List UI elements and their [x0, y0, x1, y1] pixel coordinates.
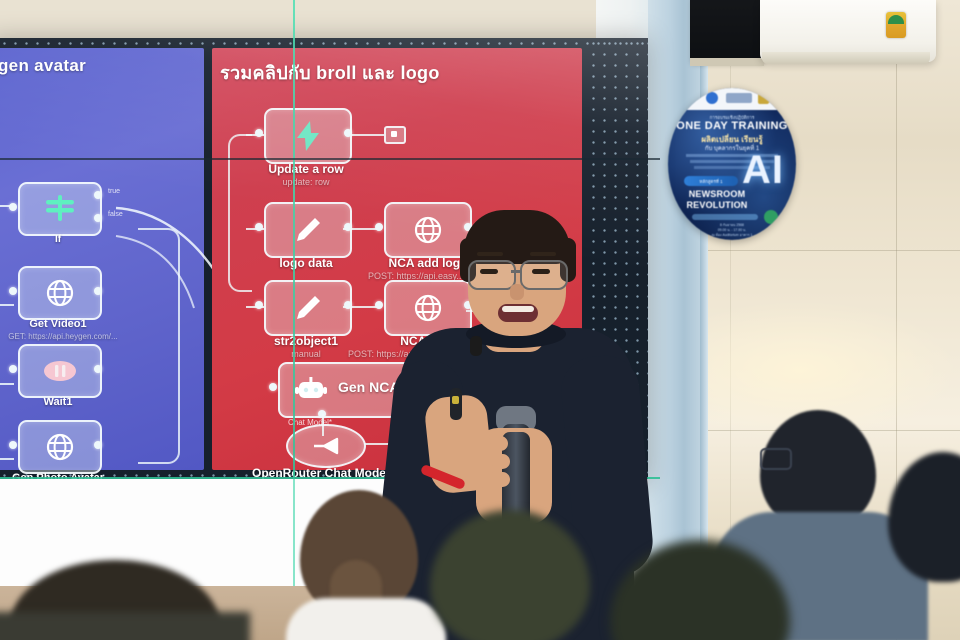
globe-icon [20, 268, 100, 318]
port-getvideo-out[interactable] [94, 287, 102, 295]
poster-topic-line2: REVOLUTION [678, 200, 756, 210]
videowall-seam-horizontal [0, 158, 660, 160]
pause-icon [20, 346, 100, 396]
node-label-gen-nca: Gen NCA [338, 379, 399, 395]
lapel-mic-clip [470, 336, 482, 356]
pencil-icon [266, 204, 350, 256]
lightning-icon [266, 110, 350, 162]
eyeglasses-bridge [511, 270, 522, 273]
panel-blue-title: gen avatar [0, 56, 86, 76]
node-label-if: If [18, 234, 98, 245]
poster-ai-text: AI [742, 148, 784, 193]
port-logodata-out[interactable] [344, 223, 352, 231]
node-get-video1[interactable] [18, 266, 102, 320]
node-sub-update-a-row: update: row [250, 177, 362, 187]
poster-logo-1-icon [706, 92, 718, 104]
node-wait1[interactable] [18, 344, 102, 398]
port-ncaaddlogo-in[interactable] [375, 223, 383, 231]
photograph-scene: การอบรมเชิงปฏิบัติการ ONE DAY TRAINING ผ… [0, 0, 960, 640]
node-update-a-row[interactable] [264, 108, 352, 164]
node-label-get-video1: Get Video1 [6, 318, 110, 330]
videowall-seam-vertical [293, 0, 295, 520]
node-label-update-a-row: Update a row [250, 162, 362, 176]
port-ncamix3-in[interactable] [375, 301, 383, 309]
poster-footer3: ณ ห้อง Auditorium อาคาร 1 [668, 233, 796, 238]
pencil-icon [266, 282, 350, 334]
presenter-brow-left [477, 252, 503, 256]
node-sub-str2object1: manual [250, 349, 362, 359]
poster-seal-icon [764, 210, 778, 224]
presenter-eye-left [480, 269, 498, 274]
node-label-wait1: Wait1 [18, 396, 98, 408]
port-if-true[interactable] [94, 191, 102, 199]
wire-in-genphoto [0, 458, 14, 460]
node-openrouter-chat-model1[interactable] [286, 424, 366, 468]
wire-update-to-end [348, 134, 384, 136]
remote-indicator-icon [452, 396, 459, 404]
robot-icon [294, 376, 328, 409]
energy-label-arc-icon [888, 15, 904, 24]
presenter-teeth [502, 306, 534, 312]
openrouter-icon [288, 426, 364, 466]
eyeglasses-left-lens [468, 260, 516, 290]
event-poster: การอบรมเชิงปฏิบัติการ ONE DAY TRAINING ผ… [668, 88, 796, 240]
port-genphoto-in[interactable] [9, 441, 17, 449]
node-gen-photo-avatar[interactable] [18, 420, 102, 474]
port-wait1-in[interactable] [9, 365, 17, 373]
panel-red-title: รวมคลิปกับ broll และ logo [220, 58, 440, 87]
poster-logo-2-icon [726, 93, 752, 103]
ceiling-speaker [690, 0, 762, 62]
port-label-true: true [108, 188, 120, 195]
audience-shoulders-left [0, 612, 250, 640]
port-genphoto-out[interactable] [94, 441, 102, 449]
poster-logo-3-icon [758, 92, 769, 104]
poster-title: ONE DAY TRAINING [668, 120, 796, 132]
port-getvideo-in[interactable] [9, 287, 17, 295]
audience-shirt-center [286, 598, 446, 640]
port-wait1-out[interactable] [94, 365, 102, 373]
port-logodata-in[interactable] [255, 223, 263, 231]
node-if[interactable] [18, 182, 102, 236]
node-label-logo-data: logo data [256, 256, 356, 270]
port-str2object1-in[interactable] [255, 301, 263, 309]
poster-divider [692, 214, 758, 220]
speaker-bracket [690, 58, 764, 66]
presenter-nose [510, 284, 524, 300]
port-gen-nca-in[interactable] [269, 383, 277, 391]
port-updaterow-in[interactable] [255, 129, 263, 137]
node-endpoint[interactable] [384, 126, 406, 144]
port-str2object1-out[interactable] [344, 301, 352, 309]
audience-eyeglasses-icon [760, 448, 792, 470]
presenter-brow-right [530, 252, 556, 256]
eyeglasses-right-lens [520, 260, 568, 290]
presenter-held-remote [450, 388, 462, 420]
port-if-in[interactable] [9, 203, 17, 211]
air-conditioner-vent [762, 52, 930, 64]
poster-badge-label: หลักสูตรที่ 1 [684, 178, 738, 185]
node-label-str2object1: str2object1 [250, 334, 362, 348]
globe-icon [20, 422, 100, 472]
node-str2object1[interactable] [264, 280, 352, 336]
presenter-eye-right [532, 269, 550, 274]
port-label-false: false [108, 211, 123, 218]
filter-icon [20, 184, 100, 234]
wire-in-wait [0, 383, 14, 385]
screen-lower-seam [293, 479, 295, 589]
node-logo-data[interactable] [264, 202, 352, 258]
port-updaterow-out[interactable] [344, 129, 352, 137]
wire-in-getvideo [0, 304, 14, 306]
node-sub-get-video1: GET: https://api.heygen.com/... [0, 332, 148, 341]
port-if-false[interactable] [94, 214, 102, 222]
